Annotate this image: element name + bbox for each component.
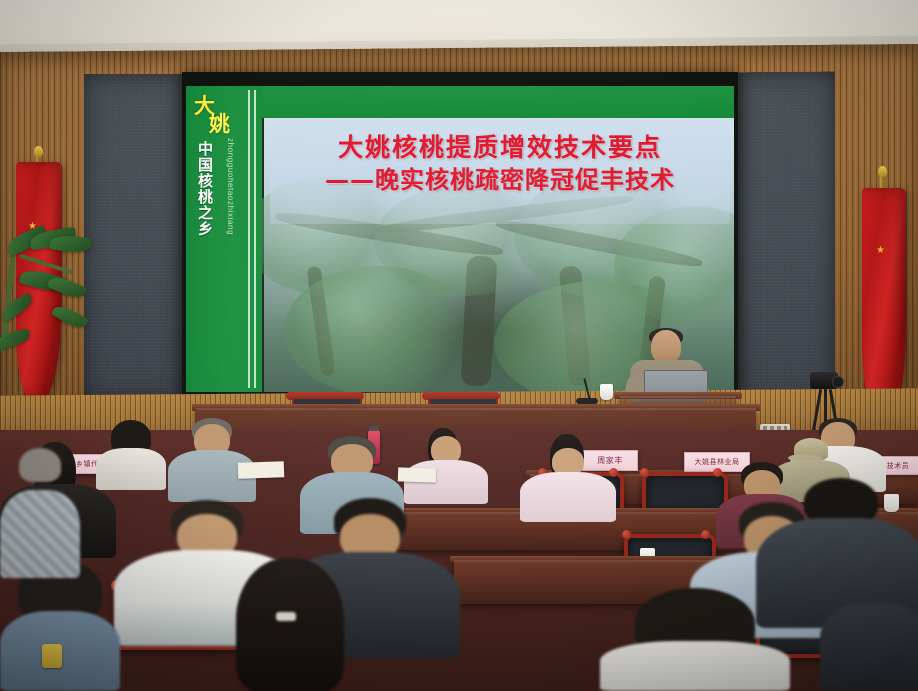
brand-char-0: 中: [198, 142, 220, 158]
attendee-front-checkered: [0, 448, 80, 578]
attendee-row2-lightpink: [520, 438, 616, 522]
brand-vertical-text: 中 国 核 桃 之 乡: [198, 142, 220, 238]
brand-char-3: 桃: [198, 190, 220, 206]
notebook-row1: [238, 461, 285, 479]
acoustic-panel-right: [735, 72, 835, 403]
attendee-front-far-right-torso: [820, 603, 918, 691]
chair-row1-b-knob-l: [640, 468, 649, 477]
daiyao-logo: 大 姚: [194, 96, 240, 140]
potted-plant: [0, 182, 130, 372]
attendee-front-left-head: [0, 560, 120, 691]
attendee-front-right-head: [600, 588, 790, 691]
plant-leaf-3: [49, 233, 93, 255]
slide-title: 大姚核桃提质增效技术要点 ——晚实核桃疏密降冠促丰技术: [270, 132, 730, 196]
brand-char-1: 国: [198, 158, 220, 174]
attendee-front-right-torso: [600, 641, 790, 691]
brand-char-5: 乡: [198, 222, 220, 238]
brand-pinyin-text: zhongguohetaozhixiang: [226, 138, 235, 235]
conference-hall-photo: 大 姚 中 国 核 桃 之 乡 zhongguohetaozhixiang 大姚…: [0, 0, 918, 691]
slide-title-line-2: ——晚实核桃疏密降冠促丰技术: [270, 164, 730, 196]
slide-title-line-1: 大姚核桃提质增效技术要点: [270, 132, 730, 164]
brand-char-4: 之: [198, 206, 220, 222]
tin-can-foreground: [42, 644, 62, 668]
attendee-front-hairtie: [276, 612, 296, 621]
logo-char-2: 姚: [209, 114, 240, 135]
flag-cloth-right: [862, 188, 906, 416]
camera-lens-icon: [832, 376, 844, 388]
slide-green-header-band: [186, 86, 734, 118]
attendee-front-ponytail-right-hair: [236, 558, 344, 691]
thermos-lid: [369, 426, 379, 431]
attendee-front-checkered-torso: [0, 490, 80, 578]
attendee-row1-grey: [168, 418, 256, 502]
attendee-row2-lightpink-torso: [520, 472, 616, 522]
slide-divider-line-1: [248, 90, 250, 388]
brand-char-2: 核: [198, 174, 220, 190]
flag-right: ★: [862, 172, 918, 422]
attendee-front-far-right: [820, 600, 918, 691]
flag-star-right: ★: [876, 246, 885, 256]
plant-leaf-5: [47, 273, 88, 302]
presenter-head: [651, 330, 681, 364]
slide-divider-line-2: [254, 90, 256, 388]
chair-row2-a-knob-l: [622, 530, 631, 539]
attendee-cap-icon: [794, 438, 828, 460]
attendee-front-checkered-hair: [19, 448, 61, 482]
attendee-row1-pink: [404, 428, 488, 504]
plant-leaf-6: [51, 302, 89, 332]
cup-podium: [600, 384, 613, 400]
attendee-front-ponytail-right: [190, 562, 390, 691]
